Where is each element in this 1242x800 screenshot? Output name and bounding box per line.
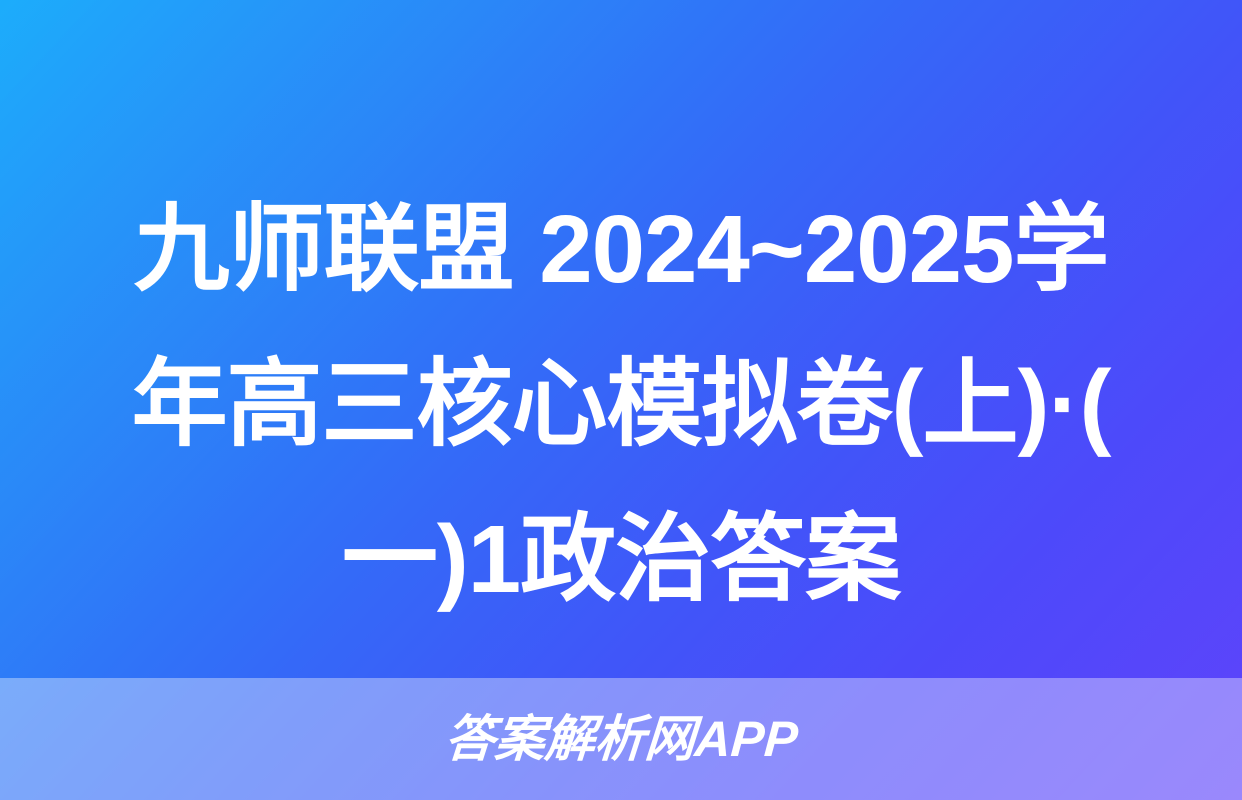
title-line-3: 一)1政治答案: [88, 482, 1154, 637]
promo-title-card: 九师联盟 2024~2025学 年高三核心模拟卷(上)·( 一)1政治答案 答案…: [0, 0, 1242, 800]
title-line-1: 九师联盟 2024~2025学: [88, 172, 1154, 327]
title-line-2: 年高三核心模拟卷(上)·(: [88, 327, 1154, 482]
app-watermark-label: 答案解析网APP: [443, 714, 799, 764]
page-title: 九师联盟 2024~2025学 年高三核心模拟卷(上)·( 一)1政治答案: [88, 172, 1154, 637]
footer-watermark-band: 答案解析网APP: [0, 678, 1242, 800]
